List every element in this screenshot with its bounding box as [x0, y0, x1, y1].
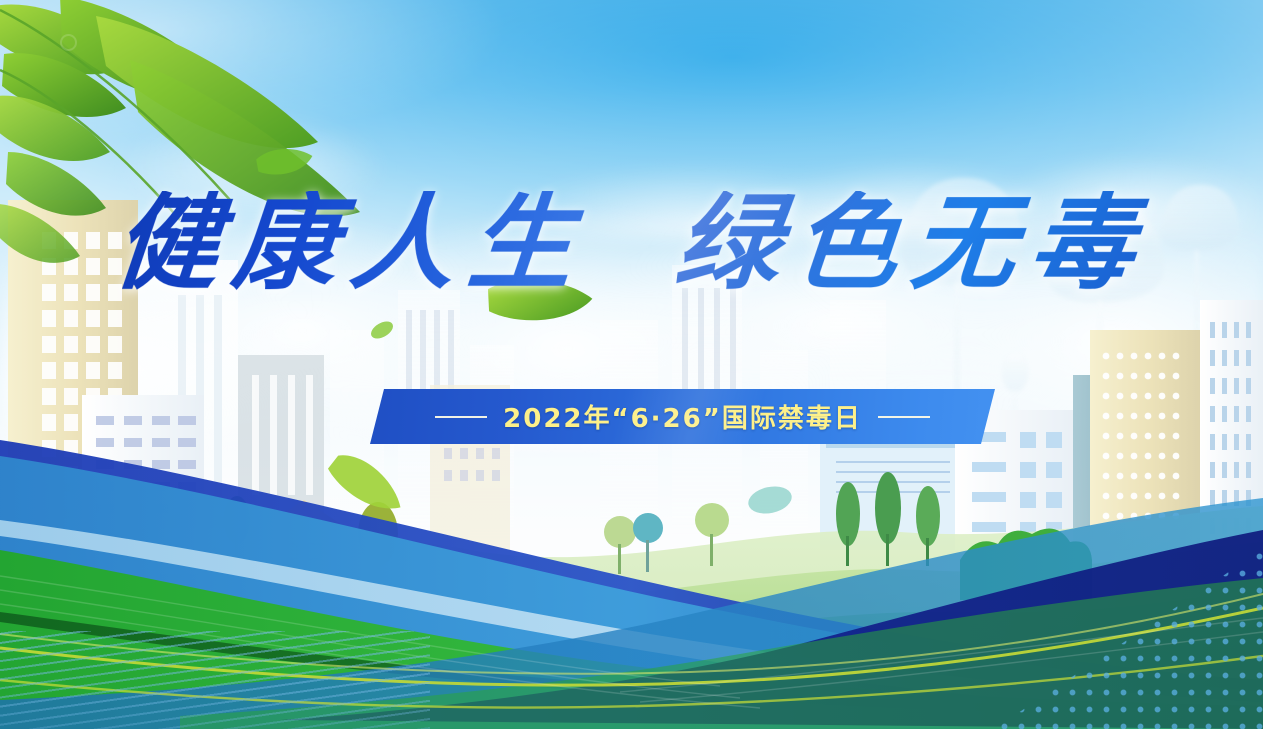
banner-dash-right	[878, 416, 930, 418]
falling-green-leaves	[0, 0, 1263, 729]
banner-decor-circle	[60, 34, 77, 51]
poster-canvas: 健康人生 绿色无毒 2022年“6·26”国际禁毒日	[0, 0, 1263, 729]
banner-text: 2022年“6·26”国际禁毒日	[503, 398, 862, 435]
leaf-cluster	[0, 0, 360, 263]
subtitle-banner: 2022年“6·26”国际禁毒日	[370, 389, 995, 444]
banner-dash-left	[435, 416, 487, 418]
